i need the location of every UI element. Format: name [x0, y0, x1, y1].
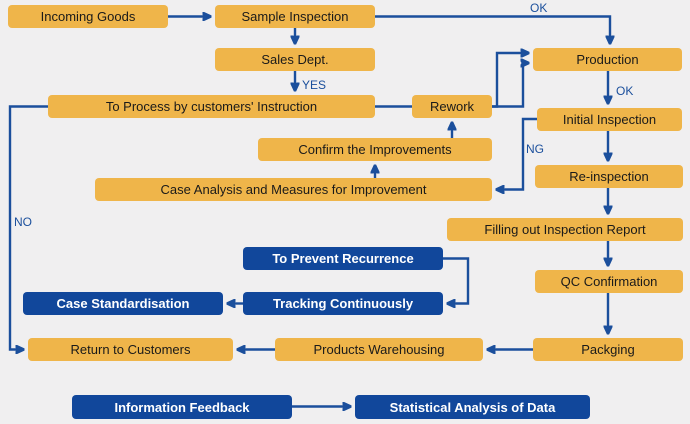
- flowchart-canvas: Incoming Goods Sample Inspection Sales D…: [0, 0, 690, 424]
- node-initial-inspection[interactable]: Initial Inspection: [537, 108, 682, 131]
- node-sales-dept[interactable]: Sales Dept.: [215, 48, 375, 71]
- node-filling-out-inspection-report[interactable]: Filling out Inspection Report: [447, 218, 683, 241]
- edge-label-yes: YES: [302, 79, 326, 91]
- edge-label-ok-right: OK: [616, 85, 633, 97]
- node-sample-inspection[interactable]: Sample Inspection: [215, 5, 375, 28]
- node-confirm-the-improvements[interactable]: Confirm the Improvements: [258, 138, 492, 161]
- edge-rework-to-production: [492, 63, 528, 107]
- node-products-warehousing[interactable]: Products Warehousing: [275, 338, 483, 361]
- node-incoming-goods[interactable]: Incoming Goods: [8, 5, 168, 28]
- node-rework[interactable]: Rework: [412, 95, 492, 118]
- node-re-inspection[interactable]: Re-inspection: [535, 165, 683, 188]
- node-information-feedback[interactable]: Information Feedback: [72, 395, 292, 419]
- edge-label-no: NO: [14, 216, 32, 228]
- node-tracking-continuously[interactable]: Tracking Continuously: [243, 292, 443, 315]
- node-packging[interactable]: Packging: [533, 338, 683, 361]
- edge-sample-ok-to-production: [375, 17, 610, 44]
- node-case-standardisation[interactable]: Case Standardisation: [23, 292, 223, 315]
- edge-prevent-to-tracking: [443, 259, 468, 304]
- node-statistical-analysis-of-data[interactable]: Statistical Analysis of Data: [355, 395, 590, 419]
- node-return-to-customers[interactable]: Return to Customers: [28, 338, 233, 361]
- node-production[interactable]: Production: [533, 48, 682, 71]
- edge-label-ok-top: OK: [530, 2, 547, 14]
- node-to-process-by-customers-instruction[interactable]: To Process by customers' Instruction: [48, 95, 375, 118]
- node-case-analysis-and-measures[interactable]: Case Analysis and Measures for Improveme…: [95, 178, 492, 201]
- edge-label-ng: NG: [526, 143, 544, 155]
- node-qc-confirmation[interactable]: QC Confirmation: [535, 270, 683, 293]
- node-to-prevent-recurrence[interactable]: To Prevent Recurrence: [243, 247, 443, 270]
